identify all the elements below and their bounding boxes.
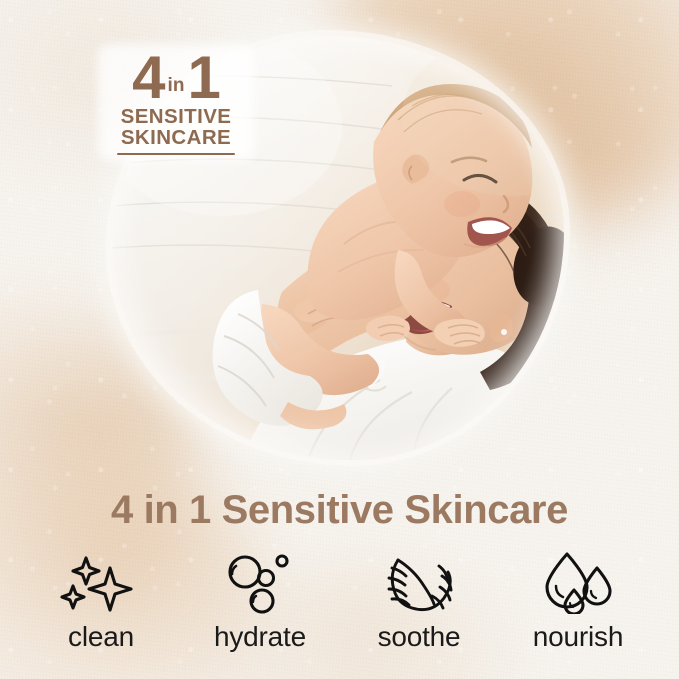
bubbles-icon bbox=[219, 552, 301, 614]
badge-subtitle: SENSITIVE SKINCARE bbox=[104, 106, 248, 149]
feature-item-soothe: soothe bbox=[344, 552, 494, 651]
feature-list: clean hydrate bbox=[26, 552, 653, 651]
feather-icon bbox=[376, 552, 462, 614]
droplets-icon bbox=[537, 552, 619, 614]
badge-subtitle-line2: SKINCARE bbox=[104, 127, 248, 148]
feature-label-clean: clean bbox=[68, 623, 134, 651]
badge-connector-in: in bbox=[168, 62, 185, 95]
feature-label-nourish: nourish bbox=[533, 623, 623, 651]
badge-underline bbox=[117, 153, 235, 155]
badge-number-four: 4 bbox=[132, 48, 164, 108]
four-in-one-badge: 4 in 1 SENSITIVE SKINCARE bbox=[104, 48, 248, 155]
page-title: 4 in 1 Sensitive Skincare bbox=[0, 488, 679, 533]
feature-item-clean: clean bbox=[26, 552, 176, 651]
sparkles-icon bbox=[58, 552, 144, 614]
feature-item-nourish: nourish bbox=[503, 552, 653, 651]
badge-number-one: 1 bbox=[187, 48, 219, 108]
feature-item-hydrate: hydrate bbox=[185, 552, 335, 651]
feature-label-hydrate: hydrate bbox=[214, 623, 306, 651]
badge-subtitle-line1: SENSITIVE bbox=[104, 106, 248, 127]
feature-label-soothe: soothe bbox=[378, 623, 461, 651]
badge-numerals: 4 in 1 bbox=[104, 48, 248, 108]
product-feature-banner: 4 in 1 SENSITIVE SKINCARE 4 in 1 Sensiti… bbox=[0, 0, 679, 679]
